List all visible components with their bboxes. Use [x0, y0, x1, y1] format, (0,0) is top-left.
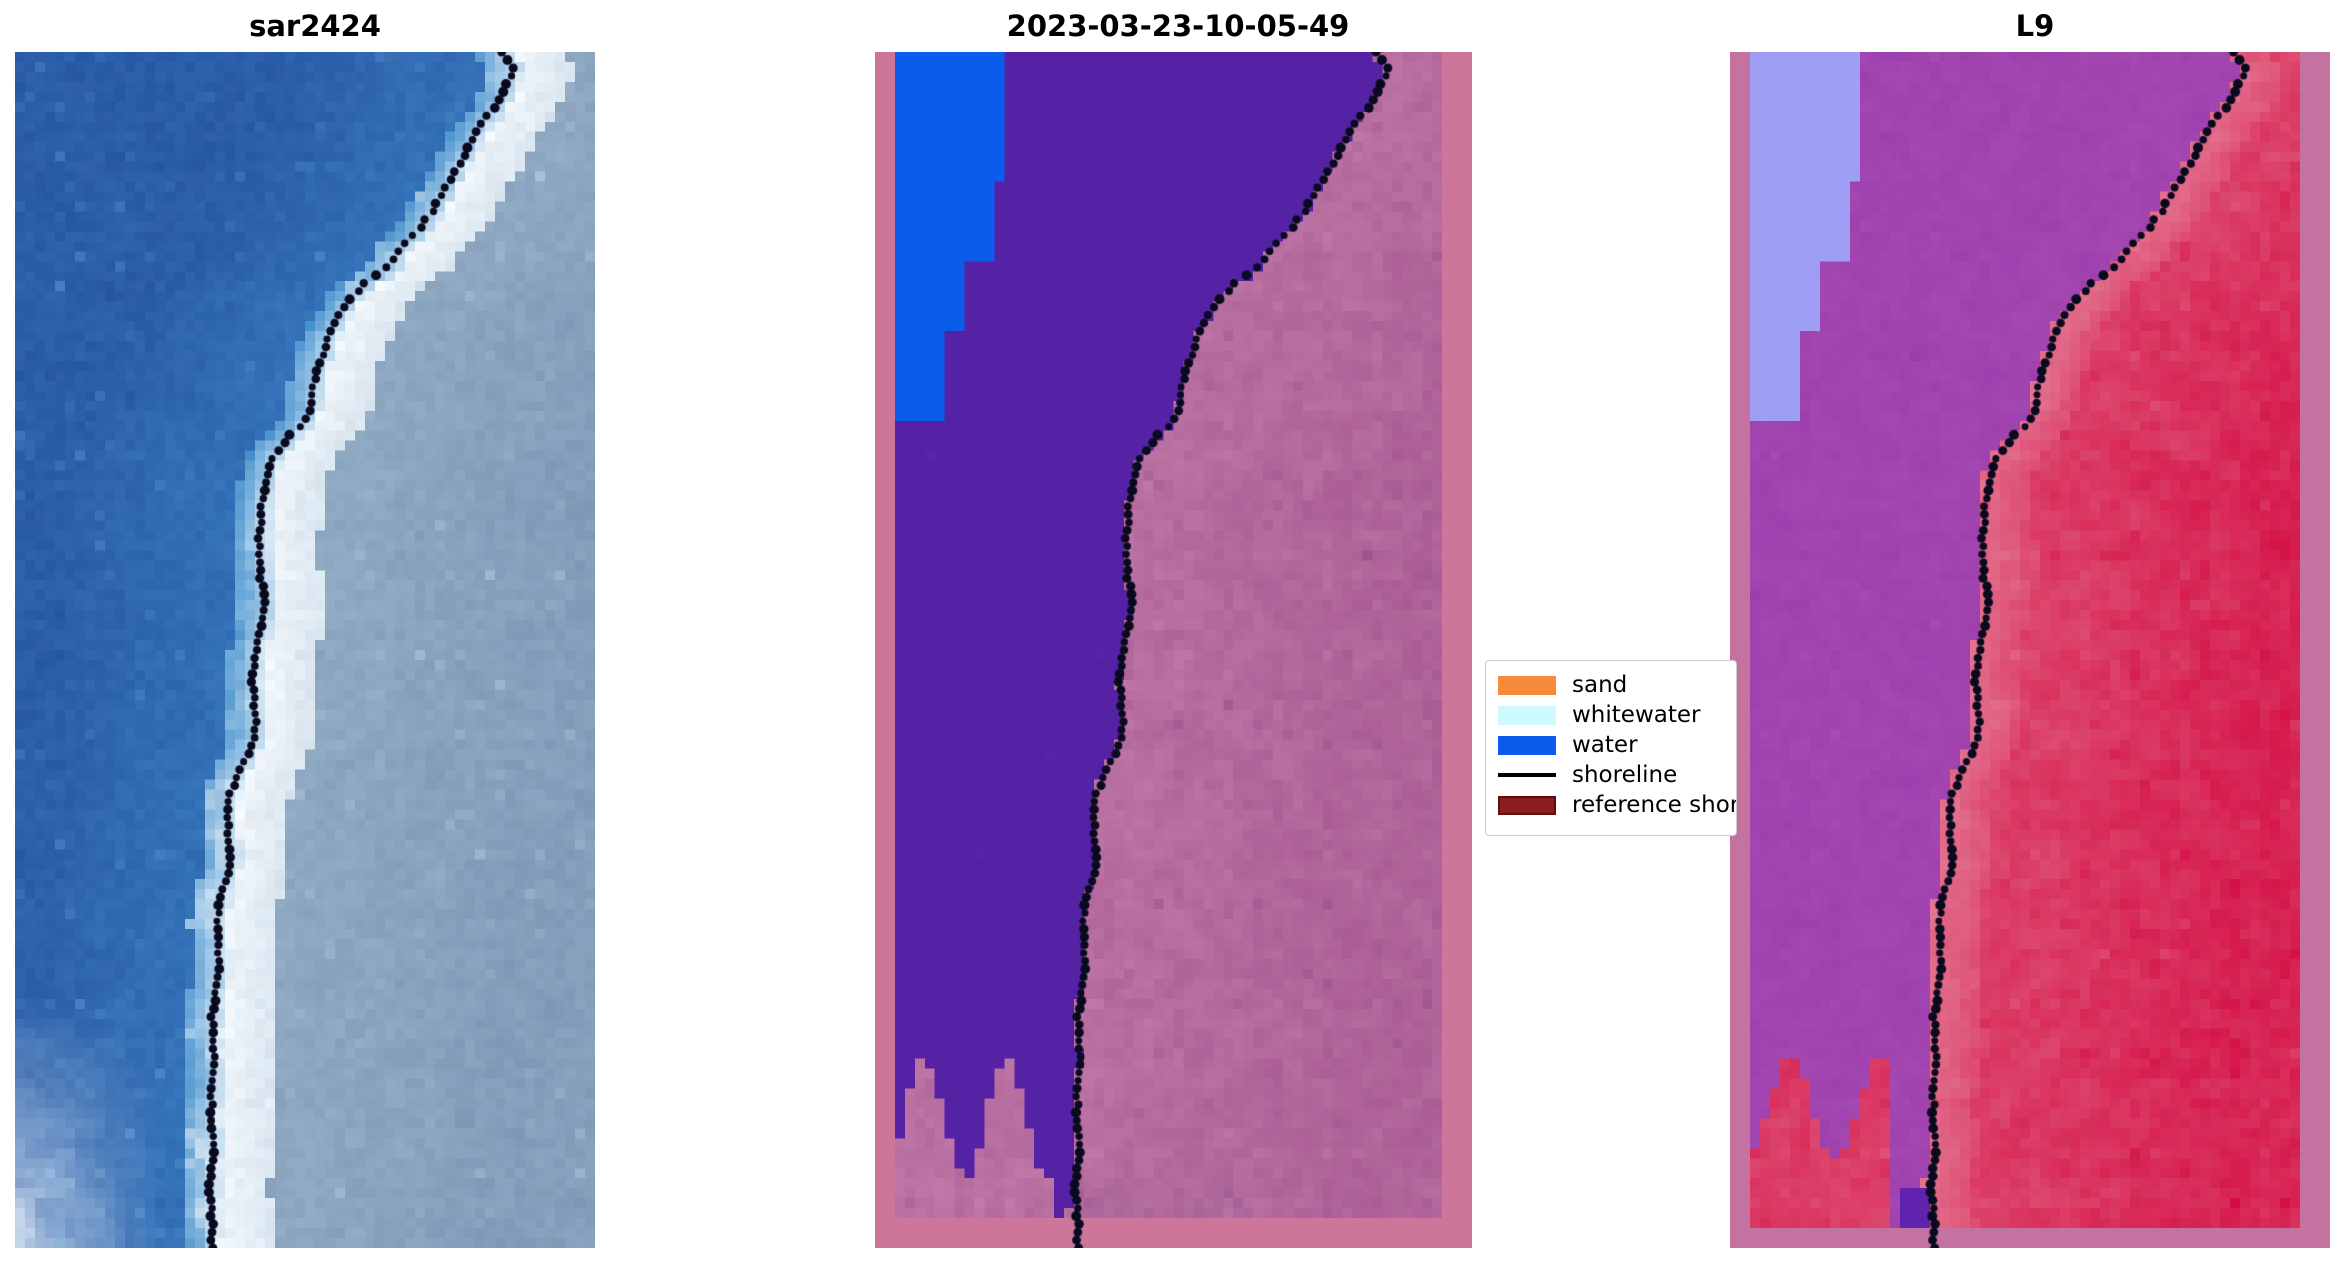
- figure-root: sar2424 2023-03-23-10-05-49 L9 sand whit…: [0, 0, 2343, 1283]
- legend-item-whitewater[interactable]: whitewater: [1498, 700, 1726, 730]
- reference-shoreline-color-swatch: [1498, 796, 1556, 815]
- whitewater-color-swatch: [1498, 706, 1556, 725]
- legend-label-reference-shoreline: reference shoreline: [1572, 794, 1737, 817]
- panel-sar2424-title: sar2424: [0, 12, 630, 41]
- panel-sar2424-shoreline-overlay: [15, 52, 595, 1248]
- legend-item-water[interactable]: water: [1498, 730, 1726, 760]
- legend-label-sand: sand: [1572, 674, 1627, 697]
- legend: sand whitewater water shoreline referenc…: [1485, 660, 1737, 836]
- legend-item-shoreline[interactable]: shoreline: [1498, 760, 1726, 790]
- panel-classification-title: 2023-03-23-10-05-49: [863, 12, 1493, 41]
- sand-color-swatch: [1498, 676, 1556, 695]
- panel-classification-shoreline-overlay: [875, 52, 1472, 1248]
- legend-item-reference-shoreline[interactable]: reference shoreline: [1498, 790, 1726, 820]
- panel-l9-shoreline-overlay: [1730, 52, 2330, 1248]
- water-color-swatch: [1498, 736, 1556, 755]
- legend-label-water: water: [1572, 734, 1638, 757]
- legend-label-whitewater: whitewater: [1572, 704, 1700, 727]
- shoreline-line-swatch: [1498, 773, 1556, 777]
- legend-item-sand[interactable]: sand: [1498, 670, 1726, 700]
- legend-label-shoreline: shoreline: [1572, 764, 1677, 787]
- panel-l9-title: L9: [1720, 12, 2343, 41]
